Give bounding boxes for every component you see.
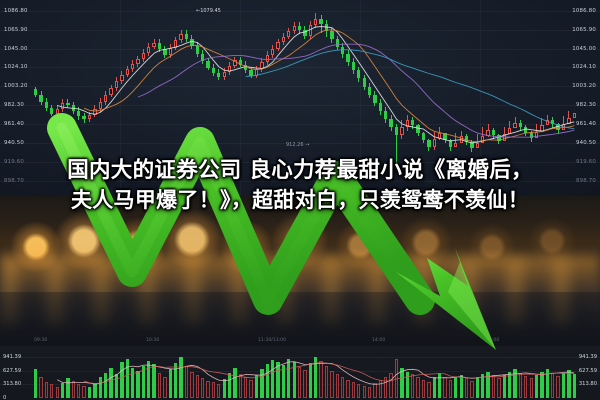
time-axis-label: 11:30/13:00 bbox=[258, 338, 286, 343]
screenshot-root: 1086.801086.801065.901065.901045.001045.… bbox=[0, 0, 600, 400]
caption-overlay: 国内大的证券公司 良心力荐最甜小说《离婚后， 夫人马甲爆了！》，超甜对白，只羡鸳… bbox=[0, 160, 600, 211]
price-axis-label: 982.30 bbox=[4, 102, 24, 108]
price-axis-label: 982.30 bbox=[576, 102, 596, 108]
price-axis-label: 1086.80 bbox=[4, 8, 28, 14]
volume-ma-line bbox=[84, 363, 574, 384]
floor-shading bbox=[0, 292, 600, 350]
price-axis-label: 1065.90 bbox=[572, 27, 596, 33]
ma-line bbox=[246, 50, 575, 129]
price-axis-label: 1045.00 bbox=[572, 46, 596, 52]
caption-line-2: 夫人马甲爆了！》，超甜对白，只羡鸳鸯不羡仙！ bbox=[71, 189, 529, 211]
caption-line-1: 国内大的证券公司 良心力荐最甜小说《离婚后， bbox=[67, 160, 533, 183]
price-axis-label: 1003.20 bbox=[572, 83, 596, 89]
high-price-marker: ←1079.45 bbox=[196, 8, 221, 14]
volume-axis-label: 941.39 bbox=[3, 354, 21, 360]
price-axis-label: 940.50 bbox=[576, 140, 596, 146]
time-axis-label: 15:00 bbox=[486, 338, 499, 343]
volume-ma-lines bbox=[0, 346, 600, 400]
volume-axis-label: 313.80 bbox=[579, 381, 597, 387]
low-price-marker: 912.26 → bbox=[286, 142, 309, 148]
volume-axis-label: 941.39 bbox=[579, 354, 597, 360]
price-axis-label: 1024.10 bbox=[572, 64, 596, 70]
time-axis-label: 09:30 bbox=[34, 338, 47, 343]
volume-axis-label: 313.80 bbox=[3, 381, 21, 387]
ma-line bbox=[57, 27, 574, 144]
price-axis-label: 1045.00 bbox=[4, 46, 28, 52]
price-axis-label: 1024.10 bbox=[4, 64, 28, 70]
price-axis-label: 940.50 bbox=[4, 140, 24, 146]
price-axis-label: 1065.90 bbox=[4, 27, 28, 33]
volume-chart: 941.39941.39627.59627.59313.80313.800 bbox=[0, 346, 600, 400]
price-axis-label: 961.40 bbox=[576, 121, 596, 127]
time-axis-label: 14:00 bbox=[372, 338, 385, 343]
price-axis-label: 1003.20 bbox=[4, 83, 28, 89]
price-axis-label: 961.40 bbox=[4, 121, 24, 127]
volume-axis-label: 0 bbox=[3, 395, 6, 400]
volume-axis-label: 627.59 bbox=[579, 368, 597, 374]
price-axis-label: 1086.80 bbox=[572, 8, 596, 14]
volume-axis-label: 627.59 bbox=[3, 368, 21, 374]
time-axis-label: 10:30 bbox=[146, 338, 159, 343]
